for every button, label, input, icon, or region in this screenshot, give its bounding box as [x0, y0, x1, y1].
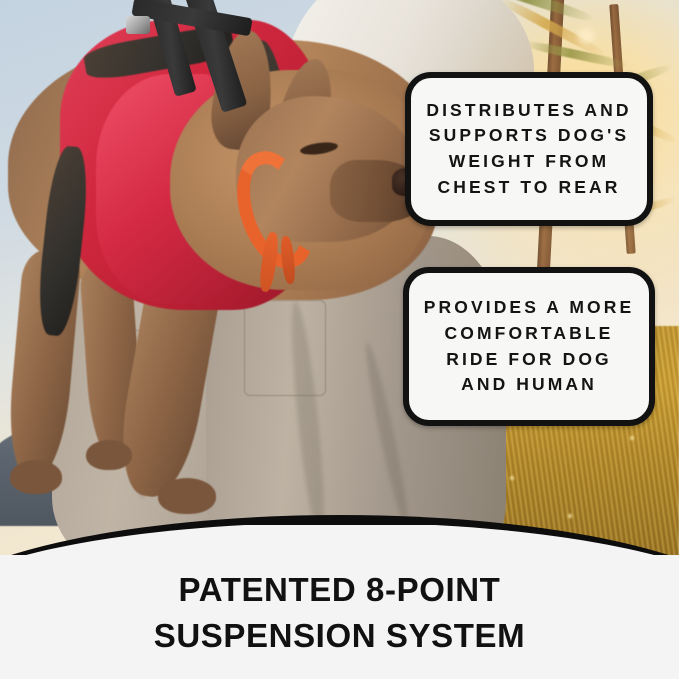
bottom-banner: PATENTED 8-POINT SUSPENSION SYSTEM — [0, 555, 679, 679]
strap-buckle — [126, 16, 150, 34]
banner-headline-line-2: SUSPENSION SYSTEM — [154, 613, 525, 659]
cargo-pocket — [244, 300, 326, 396]
banner-headline-line-1: PATENTED 8-POINT — [179, 567, 501, 613]
product-marketing-poster: DISTRIBUTES AND SUPPORTS DOG'S WEIGHT FR… — [0, 0, 679, 679]
feature-callout-1: DISTRIBUTES AND SUPPORTS DOG'S WEIGHT FR… — [405, 72, 653, 226]
feature-callout-2: PROVIDES A MORE COMFORTABLE RIDE FOR DOG… — [403, 267, 655, 426]
feature-callout-2-text: PROVIDES A MORE COMFORTABLE RIDE FOR DOG… — [423, 295, 635, 398]
feature-callout-1-text: DISTRIBUTES AND SUPPORTS DOG'S WEIGHT FR… — [425, 98, 633, 201]
